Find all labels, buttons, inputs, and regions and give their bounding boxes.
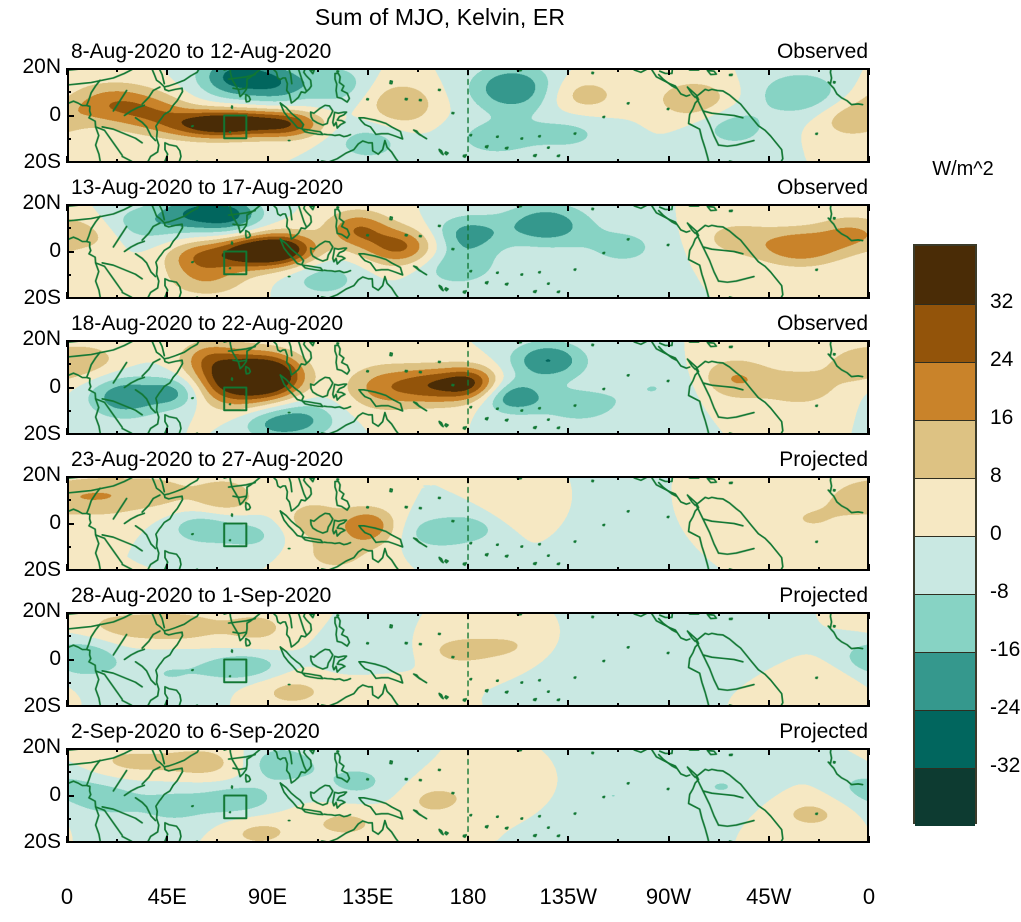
- x-minor-tick-mark: [317, 295, 319, 299]
- x-tick-label: 45W: [746, 884, 791, 910]
- x-tick-mark: [567, 156, 569, 163]
- colorbar-band: [915, 710, 975, 768]
- anomaly-field-canvas: [69, 342, 867, 433]
- x-minor-tick-mark: [417, 159, 419, 163]
- y-tick-mark: [67, 476, 74, 478]
- anomaly-field-canvas: [69, 206, 867, 297]
- x-minor-tick-mark: [818, 748, 820, 752]
- x-tick-mark: [467, 564, 469, 571]
- colorbar: [913, 244, 977, 824]
- anomaly-field-canvas: [69, 750, 867, 841]
- x-tick-mark: [868, 292, 870, 299]
- y-tick-mark: [67, 340, 74, 342]
- x-minor-tick-mark: [718, 431, 720, 435]
- x-tick-mark: [868, 340, 870, 347]
- x-minor-tick-mark: [116, 204, 118, 208]
- x-tick-mark: [166, 340, 168, 347]
- map-panel-4: 23-Aug-2020 to 27-Aug-2020Projected20N02…: [67, 476, 869, 571]
- y-tick-mark: [67, 115, 74, 117]
- x-tick-mark: [166, 156, 168, 163]
- y-tick-mark: [67, 297, 74, 299]
- colorbar-band: [915, 478, 975, 536]
- map-panel-6: 2-Sep-2020 to 6-Sep-2020Projected20N020S: [67, 748, 869, 843]
- x-tick-mark: [267, 68, 269, 75]
- x-minor-tick-mark: [818, 839, 820, 843]
- panel-title: 8-Aug-2020 to 12-Aug-2020: [71, 40, 331, 64]
- x-tick-mark: [367, 700, 369, 707]
- y-minor-tick-mark: [67, 635, 71, 637]
- x-tick-mark: [166, 476, 168, 483]
- x-tick-mark: [467, 204, 469, 211]
- panel-title: 13-Aug-2020 to 17-Aug-2020: [71, 176, 343, 200]
- x-tick-mark: [267, 204, 269, 211]
- colorbar-band: [915, 652, 975, 710]
- x-minor-tick-mark: [116, 159, 118, 163]
- x-tick-mark: [668, 564, 670, 571]
- y-tick-label: 0: [3, 647, 61, 671]
- panel-plot-area: [67, 340, 869, 435]
- y-minor-tick-mark: [67, 682, 71, 684]
- y-minor-tick-mark: [67, 274, 71, 276]
- x-minor-tick-mark: [417, 295, 419, 299]
- x-minor-tick-mark: [116, 612, 118, 616]
- map-panel-2: 13-Aug-2020 to 17-Aug-2020Observed20N020…: [67, 204, 869, 299]
- x-minor-tick-mark: [617, 204, 619, 208]
- x-minor-tick-mark: [216, 431, 218, 435]
- y-tick-label: 0: [3, 511, 61, 535]
- map-panel-3: 18-Aug-2020 to 22-Aug-2020Observed20N020…: [67, 340, 869, 435]
- x-tick-label: 90W: [646, 884, 691, 910]
- x-tick-mark: [868, 68, 870, 75]
- colorbar-band-divider: [915, 536, 975, 537]
- x-tick-mark: [768, 340, 770, 347]
- x-minor-tick-mark: [818, 204, 820, 208]
- x-tick-mark: [668, 476, 670, 483]
- x-minor-tick-mark: [417, 340, 419, 344]
- x-tick-label: 90E: [248, 884, 287, 910]
- y-tick-label: 20S: [3, 694, 61, 718]
- x-tick-mark: [267, 612, 269, 619]
- x-minor-tick-mark: [617, 839, 619, 843]
- y-tick-label: 0: [3, 239, 61, 263]
- x-tick-mark: [768, 292, 770, 299]
- y-tick-label: 20N: [3, 735, 61, 759]
- x-minor-tick-mark: [617, 431, 619, 435]
- y-minor-tick-mark: [67, 363, 71, 365]
- x-minor-tick-mark: [517, 204, 519, 208]
- x-tick-mark: [267, 292, 269, 299]
- x-tick-label: 180: [450, 884, 487, 910]
- x-minor-tick-mark: [517, 340, 519, 344]
- x-tick-mark: [367, 476, 369, 483]
- x-tick-mark: [567, 836, 569, 843]
- anomaly-field-canvas: [69, 70, 867, 161]
- x-minor-tick-mark: [517, 159, 519, 163]
- colorbar-band-divider: [915, 768, 975, 769]
- x-minor-tick-mark: [317, 703, 319, 707]
- x-minor-tick-mark: [216, 68, 218, 72]
- x-tick-mark: [467, 836, 469, 843]
- x-tick-mark: [868, 836, 870, 843]
- colorbar-tick-label: 24: [990, 348, 1013, 372]
- colorbar-band: [915, 304, 975, 362]
- x-minor-tick-mark: [417, 703, 419, 707]
- y-tick-label: 20S: [3, 286, 61, 310]
- x-minor-tick-mark: [317, 431, 319, 435]
- x-minor-tick-mark: [317, 204, 319, 208]
- x-tick-mark: [567, 68, 569, 75]
- x-minor-tick-mark: [818, 159, 820, 163]
- y-tick-label: 20S: [3, 558, 61, 582]
- y-tick-mark: [67, 795, 74, 797]
- x-tick-mark: [567, 428, 569, 435]
- x-tick-mark: [166, 564, 168, 571]
- x-tick-mark: [768, 700, 770, 707]
- colorbar-tick-label: -8: [990, 580, 1009, 604]
- x-minor-tick-mark: [317, 68, 319, 72]
- x-minor-tick-mark: [617, 476, 619, 480]
- y-tick-label: 20N: [3, 191, 61, 215]
- y-minor-tick-mark: [67, 91, 71, 93]
- x-minor-tick-mark: [718, 612, 720, 616]
- x-minor-tick-mark: [818, 476, 820, 480]
- x-axis: 045E90E135E180135W90W45W0: [0, 884, 1021, 918]
- x-minor-tick-mark: [216, 839, 218, 843]
- x-minor-tick-mark: [216, 476, 218, 480]
- y-tick-mark: [67, 387, 74, 389]
- x-minor-tick-mark: [116, 295, 118, 299]
- x-minor-tick-mark: [116, 431, 118, 435]
- x-minor-tick-mark: [818, 68, 820, 72]
- x-minor-tick-mark: [417, 68, 419, 72]
- x-minor-tick-mark: [116, 748, 118, 752]
- x-minor-tick-mark: [617, 703, 619, 707]
- y-tick-mark: [67, 659, 74, 661]
- y-minor-tick-mark: [67, 227, 71, 229]
- x-tick-mark: [567, 612, 569, 619]
- x-tick-mark: [166, 292, 168, 299]
- y-tick-mark: [67, 433, 74, 435]
- x-minor-tick-mark: [718, 703, 720, 707]
- y-tick-label: 0: [3, 103, 61, 127]
- x-tick-mark: [467, 340, 469, 347]
- x-minor-tick-mark: [617, 748, 619, 752]
- x-tick-mark: [467, 156, 469, 163]
- x-tick-mark: [768, 68, 770, 75]
- colorbar-band-divider: [915, 420, 975, 421]
- anomaly-field-canvas: [69, 478, 867, 569]
- panel-status-label: Observed: [777, 40, 868, 64]
- colorbar-band-divider: [915, 652, 975, 653]
- x-tick-label: 45E: [148, 884, 187, 910]
- x-minor-tick-mark: [216, 567, 218, 571]
- y-minor-tick-mark: [67, 410, 71, 412]
- x-minor-tick-mark: [718, 748, 720, 752]
- panel-plot-area: [67, 612, 869, 707]
- panel-status-label: Observed: [777, 312, 868, 336]
- x-tick-mark: [768, 564, 770, 571]
- x-minor-tick-mark: [718, 295, 720, 299]
- x-tick-mark: [668, 292, 670, 299]
- x-minor-tick-mark: [517, 295, 519, 299]
- y-minor-tick-mark: [67, 771, 71, 773]
- x-tick-mark: [267, 428, 269, 435]
- x-tick-mark: [768, 156, 770, 163]
- y-tick-label: 0: [3, 783, 61, 807]
- colorbar-band-divider: [915, 710, 975, 711]
- x-tick-mark: [267, 156, 269, 163]
- panel-status-label: Projected: [779, 448, 868, 472]
- x-tick-mark: [868, 204, 870, 211]
- colorbar-unit-label: W/m^2: [913, 158, 1013, 181]
- colorbar-tick-label: -16: [990, 638, 1020, 662]
- x-tick-mark: [668, 428, 670, 435]
- x-tick-mark: [768, 748, 770, 755]
- panel-title: 28-Aug-2020 to 1-Sep-2020: [71, 584, 331, 608]
- panel-status-label: Projected: [779, 584, 868, 608]
- x-tick-label: 135W: [540, 884, 597, 910]
- x-tick-mark: [367, 340, 369, 347]
- x-minor-tick-mark: [417, 839, 419, 843]
- colorbar-tick-label: -24: [990, 696, 1020, 720]
- y-tick-label: 20N: [3, 327, 61, 351]
- x-minor-tick-mark: [417, 567, 419, 571]
- x-tick-mark: [868, 156, 870, 163]
- x-tick-mark: [166, 68, 168, 75]
- anomaly-field-canvas: [69, 614, 867, 705]
- x-tick-mark: [267, 564, 269, 571]
- colorbar-band-divider: [915, 594, 975, 595]
- x-minor-tick-mark: [818, 567, 820, 571]
- x-tick-mark: [367, 836, 369, 843]
- x-minor-tick-mark: [417, 204, 419, 208]
- x-minor-tick-mark: [617, 159, 619, 163]
- x-tick-mark: [567, 476, 569, 483]
- x-minor-tick-mark: [718, 340, 720, 344]
- x-minor-tick-mark: [317, 839, 319, 843]
- x-tick-mark: [668, 340, 670, 347]
- x-tick-mark: [668, 612, 670, 619]
- x-tick-mark: [868, 748, 870, 755]
- y-tick-label: 20S: [3, 422, 61, 446]
- x-tick-mark: [868, 612, 870, 619]
- colorbar-tick-label: 8: [990, 464, 1002, 488]
- x-tick-mark: [467, 292, 469, 299]
- x-minor-tick-mark: [517, 839, 519, 843]
- x-minor-tick-mark: [617, 612, 619, 616]
- x-tick-mark: [267, 700, 269, 707]
- x-tick-mark: [567, 340, 569, 347]
- colorbar-band-divider: [915, 478, 975, 479]
- x-tick-mark: [367, 204, 369, 211]
- x-minor-tick-mark: [216, 295, 218, 299]
- x-tick-mark: [768, 204, 770, 211]
- x-tick-mark: [367, 564, 369, 571]
- x-minor-tick-mark: [818, 612, 820, 616]
- x-tick-mark: [768, 476, 770, 483]
- x-tick-mark: [367, 68, 369, 75]
- x-tick-mark: [567, 292, 569, 299]
- x-tick-mark: [166, 700, 168, 707]
- x-minor-tick-mark: [216, 204, 218, 208]
- panel-plot-area: [67, 68, 869, 163]
- panel-title: 2-Sep-2020 to 6-Sep-2020: [71, 720, 320, 744]
- y-tick-mark: [67, 705, 74, 707]
- x-minor-tick-mark: [517, 476, 519, 480]
- x-minor-tick-mark: [517, 703, 519, 707]
- x-minor-tick-mark: [718, 159, 720, 163]
- x-tick-mark: [768, 836, 770, 843]
- y-tick-mark: [67, 204, 74, 206]
- x-minor-tick-mark: [417, 476, 419, 480]
- x-tick-mark: [868, 700, 870, 707]
- x-minor-tick-mark: [517, 612, 519, 616]
- panel-status-label: Projected: [779, 720, 868, 744]
- x-minor-tick-mark: [317, 748, 319, 752]
- x-tick-mark: [668, 156, 670, 163]
- y-tick-label: 0: [3, 375, 61, 399]
- x-tick-mark: [467, 748, 469, 755]
- x-minor-tick-mark: [517, 748, 519, 752]
- x-tick-mark: [367, 292, 369, 299]
- y-minor-tick-mark: [67, 818, 71, 820]
- x-minor-tick-mark: [517, 431, 519, 435]
- x-tick-mark: [267, 836, 269, 843]
- x-minor-tick-mark: [317, 567, 319, 571]
- x-minor-tick-mark: [216, 748, 218, 752]
- x-tick-mark: [367, 748, 369, 755]
- x-minor-tick-mark: [317, 159, 319, 163]
- y-tick-label: 20N: [3, 599, 61, 623]
- panel-plot-area: [67, 748, 869, 843]
- x-tick-mark: [367, 612, 369, 619]
- x-minor-tick-mark: [617, 68, 619, 72]
- x-minor-tick-mark: [216, 159, 218, 163]
- x-tick-mark: [166, 428, 168, 435]
- colorbar-tick-label: 0: [990, 522, 1002, 546]
- colorbar-band: [915, 246, 975, 304]
- x-minor-tick-mark: [116, 703, 118, 707]
- x-tick-mark: [868, 476, 870, 483]
- x-minor-tick-mark: [116, 839, 118, 843]
- x-minor-tick-mark: [718, 204, 720, 208]
- colorbar-band: [915, 594, 975, 652]
- panel-status-label: Observed: [777, 176, 868, 200]
- y-tick-mark: [67, 748, 74, 750]
- panel-title: 23-Aug-2020 to 27-Aug-2020: [71, 448, 343, 472]
- colorbar-band: [915, 768, 975, 826]
- colorbar-band: [915, 420, 975, 478]
- x-tick-mark: [467, 700, 469, 707]
- x-minor-tick-mark: [818, 295, 820, 299]
- y-tick-label: 20N: [3, 55, 61, 79]
- x-tick-mark: [166, 836, 168, 843]
- x-tick-mark: [668, 836, 670, 843]
- x-tick-mark: [267, 340, 269, 347]
- x-minor-tick-mark: [116, 68, 118, 72]
- x-minor-tick-mark: [617, 340, 619, 344]
- x-minor-tick-mark: [116, 567, 118, 571]
- y-tick-mark: [67, 523, 74, 525]
- x-tick-mark: [567, 700, 569, 707]
- map-panel-5: 28-Aug-2020 to 1-Sep-2020Projected20N020…: [67, 612, 869, 707]
- x-tick-mark: [668, 700, 670, 707]
- x-tick-mark: [668, 68, 670, 75]
- y-tick-mark: [67, 612, 74, 614]
- x-tick-mark: [668, 748, 670, 755]
- x-minor-tick-mark: [818, 340, 820, 344]
- colorbar-band-divider: [915, 304, 975, 305]
- x-minor-tick-mark: [317, 612, 319, 616]
- x-minor-tick-mark: [718, 476, 720, 480]
- map-panel-1: 8-Aug-2020 to 12-Aug-2020Observed20N020S: [67, 68, 869, 163]
- x-tick-mark: [467, 612, 469, 619]
- x-tick-mark: [267, 476, 269, 483]
- y-tick-mark: [67, 68, 74, 70]
- y-tick-mark: [67, 251, 74, 253]
- x-tick-mark: [367, 428, 369, 435]
- x-tick-mark: [668, 204, 670, 211]
- y-minor-tick-mark: [67, 499, 71, 501]
- x-minor-tick-mark: [317, 340, 319, 344]
- x-minor-tick-mark: [818, 703, 820, 707]
- x-tick-mark: [567, 564, 569, 571]
- x-tick-mark: [567, 748, 569, 755]
- x-tick-mark: [768, 612, 770, 619]
- x-tick-mark: [467, 68, 469, 75]
- x-tick-mark: [868, 428, 870, 435]
- x-minor-tick-mark: [517, 567, 519, 571]
- colorbar-tick-label: 32: [990, 290, 1013, 314]
- x-tick-mark: [166, 204, 168, 211]
- x-tick-mark: [166, 748, 168, 755]
- x-minor-tick-mark: [517, 68, 519, 72]
- x-minor-tick-mark: [317, 476, 319, 480]
- y-minor-tick-mark: [67, 138, 71, 140]
- x-minor-tick-mark: [417, 431, 419, 435]
- x-tick-mark: [367, 156, 369, 163]
- x-tick-mark: [567, 204, 569, 211]
- y-tick-mark: [67, 841, 74, 843]
- y-minor-tick-mark: [67, 546, 71, 548]
- panel-plot-area: [67, 476, 869, 571]
- y-tick-label: 20N: [3, 463, 61, 487]
- y-tick-label: 20S: [3, 830, 61, 854]
- x-minor-tick-mark: [718, 567, 720, 571]
- x-tick-mark: [467, 476, 469, 483]
- panel-plot-area: [67, 204, 869, 299]
- x-tick-mark: [868, 564, 870, 571]
- x-minor-tick-mark: [216, 340, 218, 344]
- x-tick-label: 0: [61, 884, 73, 910]
- x-minor-tick-mark: [617, 295, 619, 299]
- x-minor-tick-mark: [216, 703, 218, 707]
- y-tick-mark: [67, 569, 74, 571]
- x-tick-label: 0: [863, 884, 875, 910]
- page-title: Sum of MJO, Kelvin, ER: [0, 4, 880, 31]
- figure-root: Sum of MJO, Kelvin, ER 8-Aug-2020 to 12-…: [0, 0, 1021, 922]
- x-tick-mark: [267, 748, 269, 755]
- x-tick-mark: [166, 612, 168, 619]
- x-minor-tick-mark: [216, 612, 218, 616]
- colorbar-tick-label: -32: [990, 754, 1020, 778]
- colorbar-tick-label: 16: [990, 406, 1013, 430]
- x-tick-label: 135E: [342, 884, 393, 910]
- x-minor-tick-mark: [818, 431, 820, 435]
- x-minor-tick-mark: [617, 567, 619, 571]
- x-minor-tick-mark: [718, 68, 720, 72]
- colorbar-band: [915, 362, 975, 420]
